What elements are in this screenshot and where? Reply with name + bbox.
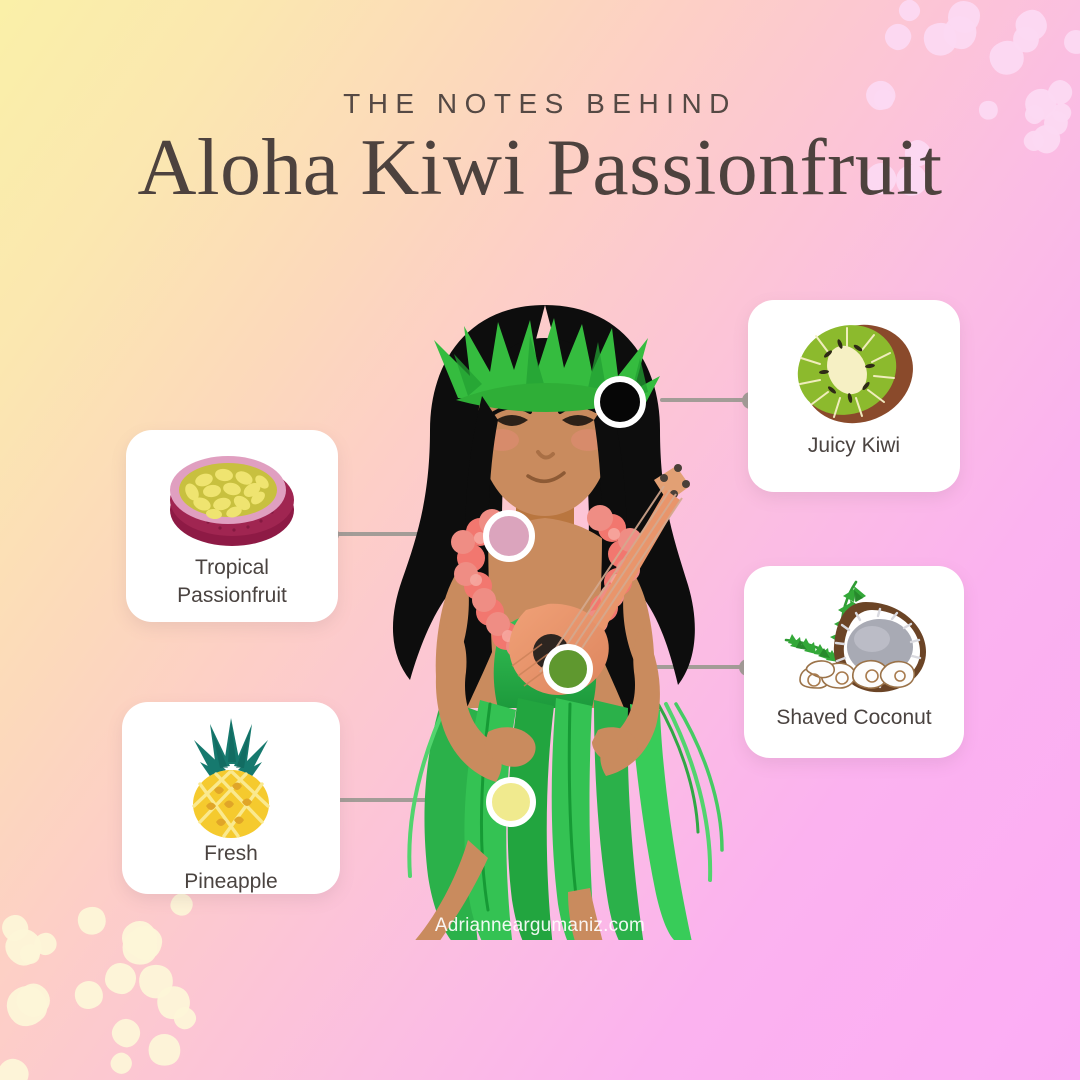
caption-line-1: Fresh: [204, 842, 258, 865]
note-card-juicy-kiwi[interactable]: Juicy Kiwi: [748, 300, 960, 492]
passionfruit-half-icon: [162, 444, 302, 554]
color-marker-fresh-pineapple[interactable]: [486, 777, 536, 827]
caption-line-2: Passionfruit: [177, 584, 287, 607]
color-marker-tropical-passionfruit[interactable]: [483, 510, 535, 562]
note-card-caption: Juicy Kiwi: [808, 432, 900, 460]
note-card-caption: Fresh Pineapple: [184, 840, 277, 896]
watermark: Adrianneargumaniz.com: [0, 915, 1080, 937]
note-card-fresh-pineapple[interactable]: Fresh Pineapple: [122, 702, 340, 894]
note-card-shaved-coconut[interactable]: Shaved Coconut: [744, 566, 964, 758]
pineapple-icon: [166, 710, 296, 840]
note-card-caption: Shaved Coconut: [776, 704, 931, 732]
coconut-icon: [774, 576, 934, 704]
color-marker-shaved-coconut[interactable]: [543, 644, 593, 694]
hula-dancer-illustration: [330, 280, 760, 940]
caption-line-1: Tropical: [195, 556, 269, 579]
note-card-caption: Tropical Passionfruit: [177, 554, 287, 610]
note-card-tropical-passionfruit[interactable]: Tropical Passionfruit: [126, 430, 338, 622]
infographic-canvas: THE NOTES BEHIND Aloha Kiwi Passionfruit: [0, 0, 1080, 1080]
color-marker-juicy-kiwi[interactable]: [594, 376, 646, 428]
kiwi-slice-icon: [784, 314, 924, 432]
caption-line-2: Pineapple: [184, 870, 277, 893]
